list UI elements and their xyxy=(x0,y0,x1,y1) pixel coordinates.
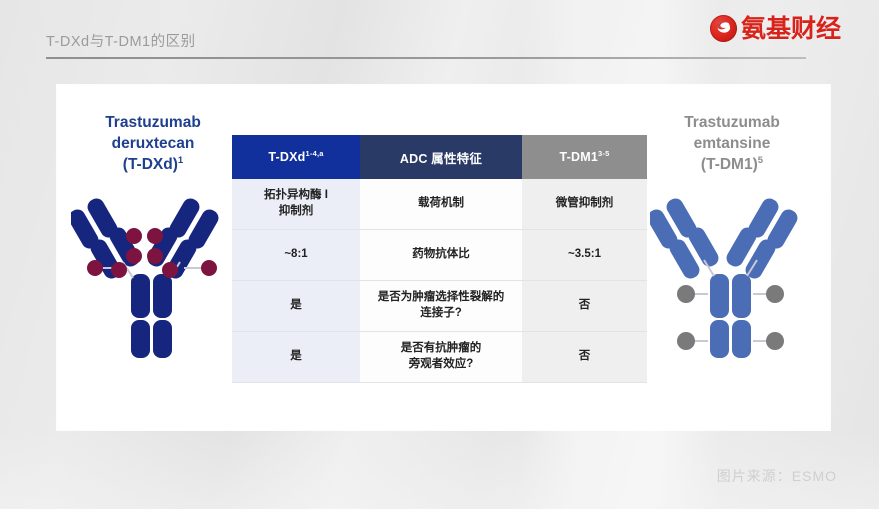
page-title: T-DXd与T-DM1的区别 xyxy=(46,30,196,51)
column-header-tdm1: T-DM13-5 xyxy=(522,135,647,179)
right-panel-title: Trastuzumab emtansine (T-DM1)5 xyxy=(684,113,780,176)
left-title-line2: deruxtecan xyxy=(112,135,195,152)
cell-tdm1: 否 xyxy=(522,332,647,383)
cell-attribute: 载荷机制 xyxy=(360,179,522,230)
right-title-line3: (T-DM1) xyxy=(701,156,758,173)
left-title-line3: (T-DXd) xyxy=(123,156,178,173)
cell-tdm1: 微管抑制剂 xyxy=(522,179,647,230)
brand-logo: 氨基财经 xyxy=(710,15,841,42)
column-header-attribute: ADC 属性特征 xyxy=(360,135,522,179)
cell-tdxd: 拓扑异构酶 I抑制剂 xyxy=(232,179,360,230)
cell-attribute: 药物抗体比 xyxy=(360,230,522,281)
right-title-superscript: 5 xyxy=(758,155,763,166)
comparison-table: T-DXd1-4,a ADC 属性特征 T-DM13-5 拓扑异构酶 I抑制剂 … xyxy=(232,135,647,383)
left-panel-title: Trastuzumab deruxtecan (T-DXd)1 xyxy=(105,113,201,176)
cell-tdm1: 否 xyxy=(522,281,647,332)
table-row: 是 是否有抗肿瘤的旁观者效应? 否 xyxy=(232,332,647,383)
table-row: 拓扑异构酶 I抑制剂 载荷机制 微管抑制剂 xyxy=(232,179,647,230)
left-molecule-panel: Trastuzumab deruxtecan (T-DXd)1 xyxy=(65,113,241,403)
cell-tdxd: ~8:1 xyxy=(232,230,360,281)
right-title-line2: emtansine xyxy=(694,135,771,152)
column-header-tdxd: T-DXd1-4,a xyxy=(232,135,360,179)
table-row: ~8:1 药物抗体比 ~3.5:1 xyxy=(232,230,647,281)
left-title-line1: Trastuzumab xyxy=(105,114,201,131)
table-header-row: T-DXd1-4,a ADC 属性特征 T-DM13-5 xyxy=(232,135,647,179)
cell-tdxd: 是 xyxy=(232,332,360,383)
right-title-line1: Trastuzumab xyxy=(684,114,780,131)
circle-swoosh-logo-icon xyxy=(710,15,737,42)
content-card: Trastuzumab deruxtecan (T-DXd)1 xyxy=(57,85,830,430)
brand-name: 氨基财经 xyxy=(741,16,841,41)
antibody-adc-diagram-icon xyxy=(650,186,814,363)
source-note: 图片来源：ESMO xyxy=(717,466,837,486)
cell-attribute: 是否有抗肿瘤的旁观者效应? xyxy=(360,332,522,383)
slide-canvas: T-DXd与T-DM1的区别 氨基财经 Trastuzumab deruxtec… xyxy=(0,0,879,509)
right-molecule-panel: Trastuzumab emtansine (T-DM1)5 xyxy=(644,113,820,403)
cell-tdxd: 是 xyxy=(232,281,360,332)
cell-tdm1: ~3.5:1 xyxy=(522,230,647,281)
cell-attribute: 是否为肿瘤选择性裂解的连接子? xyxy=(360,281,522,332)
title-divider xyxy=(46,57,806,59)
left-title-superscript: 1 xyxy=(178,155,183,166)
antibody-adc-diagram-icon xyxy=(71,186,235,363)
table-row: 是 是否为肿瘤选择性裂解的连接子? 否 xyxy=(232,281,647,332)
